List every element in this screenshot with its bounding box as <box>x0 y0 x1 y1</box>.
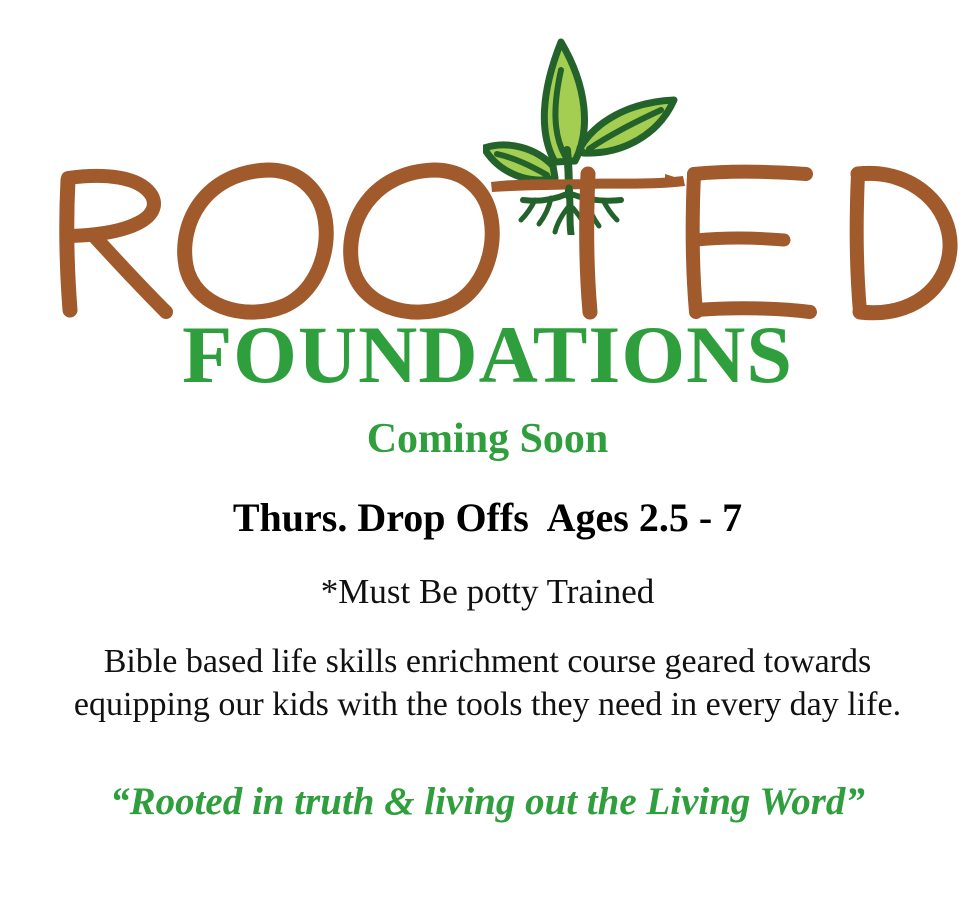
wordmark-rooted <box>0 148 975 323</box>
requirement-note: *Must Be potty Trained <box>0 570 975 614</box>
flyer-poster: FOUNDATIONS Coming Soon Thurs. Drop Offs… <box>0 0 975 900</box>
coming-soon-heading: Coming Soon <box>0 414 975 464</box>
wordmark-foundations: FOUNDATIONS <box>0 312 975 398</box>
description-paragraph: Bible based life skills enrichment cours… <box>55 640 920 726</box>
tagline-quote: “Rooted in truth & living out the Living… <box>0 778 975 826</box>
logo-lockup: FOUNDATIONS <box>0 0 975 400</box>
schedule-line: Thurs. Drop Offs Ages 2.5 - 7 <box>0 494 975 542</box>
